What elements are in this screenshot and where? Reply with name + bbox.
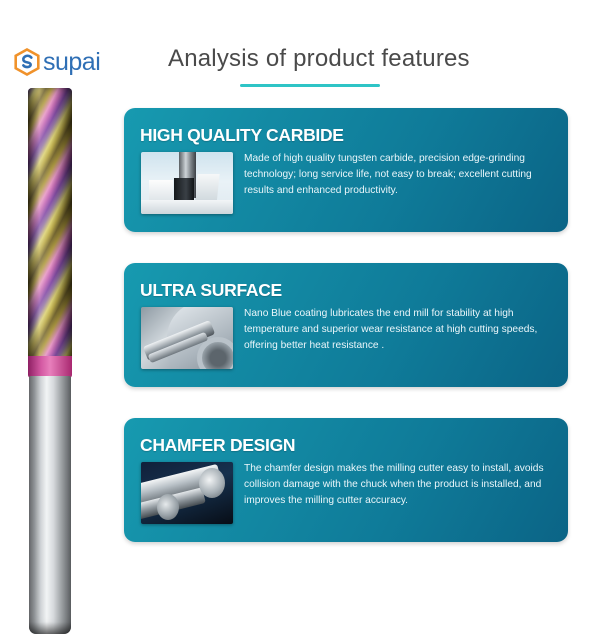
feature-card-heading: ULTRA SURFACE	[140, 280, 282, 301]
feature-card-body: Nano Blue coating lubricates the end mil…	[244, 306, 552, 354]
brand-logo-text: supai	[43, 50, 100, 75]
end-mill-flutes	[28, 88, 72, 363]
feature-card-body: Made of high quality tungsten carbide, p…	[244, 151, 552, 199]
hexagon-s-logo-icon	[14, 48, 40, 76]
product-features-infographic: supai Analysis of product features HIGH …	[0, 0, 600, 600]
feature-card-list: HIGH QUALITY CARBIDE Made of high qualit…	[124, 108, 568, 573]
chamfered-rods-photo	[141, 462, 233, 524]
feature-card-heading: CHAMFER DESIGN	[140, 435, 295, 456]
feature-card-body: The chamfer design makes the milling cut…	[244, 461, 552, 509]
end-mill-neck	[28, 356, 72, 378]
feature-card: CHAMFER DESIGN The chamfer design makes …	[124, 418, 568, 542]
feature-card: HIGH QUALITY CARBIDE Made of high qualit…	[124, 108, 568, 232]
carbide-machining-photo	[141, 152, 233, 214]
page-title: Analysis of product features	[168, 45, 470, 73]
feature-card: ULTRA SURFACE Nano Blue coating lubricat…	[124, 263, 568, 387]
coated-tool-assembly-photo	[141, 307, 233, 369]
title-underline	[240, 84, 380, 87]
end-mill-shank	[29, 376, 71, 634]
header: supai Analysis of product features	[0, 0, 600, 100]
brand-logo: supai	[14, 48, 100, 76]
feature-card-heading: HIGH QUALITY CARBIDE	[140, 125, 344, 146]
product-image-end-mill	[22, 88, 78, 548]
